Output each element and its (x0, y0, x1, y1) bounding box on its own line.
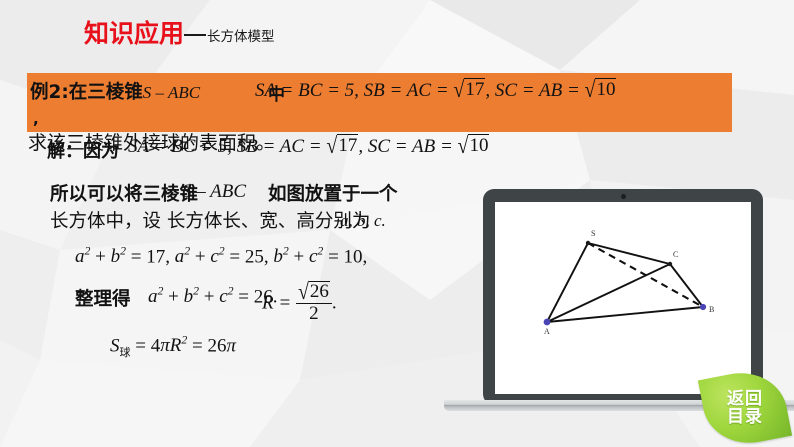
solution-place-pre: 所以可以将三棱锥 (50, 180, 198, 206)
problem-solid-name: S – ABC (143, 83, 200, 102)
solution-given-part1: SA = BC = 5, SB = AC = (128, 136, 326, 157)
sqrt-17: √17 (453, 79, 485, 102)
slide-canvas: 知识应用 长方体模型 例2:在三棱锥S – ABC 中 SA = BC = 5,… (0, 0, 794, 447)
radius-numerator: 26 (309, 281, 330, 302)
radius-period: . (332, 292, 337, 313)
vertex-label-C: C (673, 250, 678, 259)
page-title-sub: 长方体模型 (207, 29, 275, 45)
sqrt-17-solution: √17 (326, 135, 358, 158)
problem-colon: : (61, 82, 68, 103)
radius-fraction: √262 (296, 282, 332, 324)
vertex-label-S: S (591, 229, 595, 238)
solution-place-solid: S – ABC (182, 181, 246, 203)
solution-abc-vars: a, b, c. (340, 211, 386, 231)
sqrt-10-solution-radicand: 10 (468, 134, 489, 157)
problem-given-part1: SA = BC = 5, SB = AC = (255, 80, 453, 101)
radius-denominator: 2 (296, 303, 332, 324)
sphere-symbol: S (110, 335, 120, 356)
page-title-main: 知识应用 (84, 14, 184, 50)
tetrahedron-figure: S C B A (495, 202, 751, 394)
problem-statement-cjk: 在三棱锥 (69, 82, 143, 103)
problem-label-line: 例2:在三棱锥S – ABC (30, 78, 200, 104)
sphere-subscript: 球 (120, 346, 131, 359)
vertex-label-B: B (709, 305, 714, 314)
equation-sphere-area: S球 = 4πR2 = 26π (110, 334, 236, 360)
solution-place-line2: 长方体中，设 长方体长、宽、高分别为 (50, 207, 370, 233)
vertex-label-A: A (544, 327, 550, 336)
return-button-line2: 目录 (727, 408, 763, 426)
sqrt-17-radicand: 17 (464, 78, 485, 101)
solution-given-line: SA = BC = 5, SB = AC = √17, SC = AB = √1… (128, 135, 489, 158)
equation-sum: a2 + b2 + c2 = 26. (148, 285, 278, 308)
problem-given-line: SA = BC = 5, SB = AC = √17, SC = AB = √1… (255, 79, 616, 102)
solution-given-part2: , SC = AB = (358, 136, 457, 157)
sqrt-10-radicand: 10 (595, 78, 616, 101)
sqrt-10-solution: √10 (458, 135, 490, 158)
page-title: 知识应用 长方体模型 (84, 14, 275, 50)
return-to-contents-button[interactable]: 返回 目录 (704, 372, 786, 444)
problem-label: 例2 (30, 82, 61, 103)
laptop-screen: S C B A (495, 202, 751, 394)
solution-label: 解：因为 (47, 137, 119, 163)
equation-radius: R = √262. (262, 283, 337, 325)
solution-simplify-label: 整理得 (75, 285, 131, 311)
solution-place-post: 如图放置于一个 (268, 180, 398, 206)
page-title-sub-wrap: 长方体模型 (184, 25, 275, 45)
problem-given-part2: , SC = AB = (485, 80, 584, 101)
return-button-label: 返回 目录 (704, 372, 786, 444)
return-button-line1: 返回 (727, 390, 763, 408)
sqrt-17-solution-radicand: 17 (337, 134, 358, 157)
title-dash (184, 34, 206, 36)
radius-label: R = (262, 292, 296, 313)
sqrt-10: √10 (585, 79, 617, 102)
equation-system: a2 + b2 = 17, a2 + c2 = 25, b2 + c2 = 10… (75, 245, 367, 268)
problem-stray-comma: , (33, 110, 39, 128)
laptop-camera-icon (621, 194, 626, 199)
